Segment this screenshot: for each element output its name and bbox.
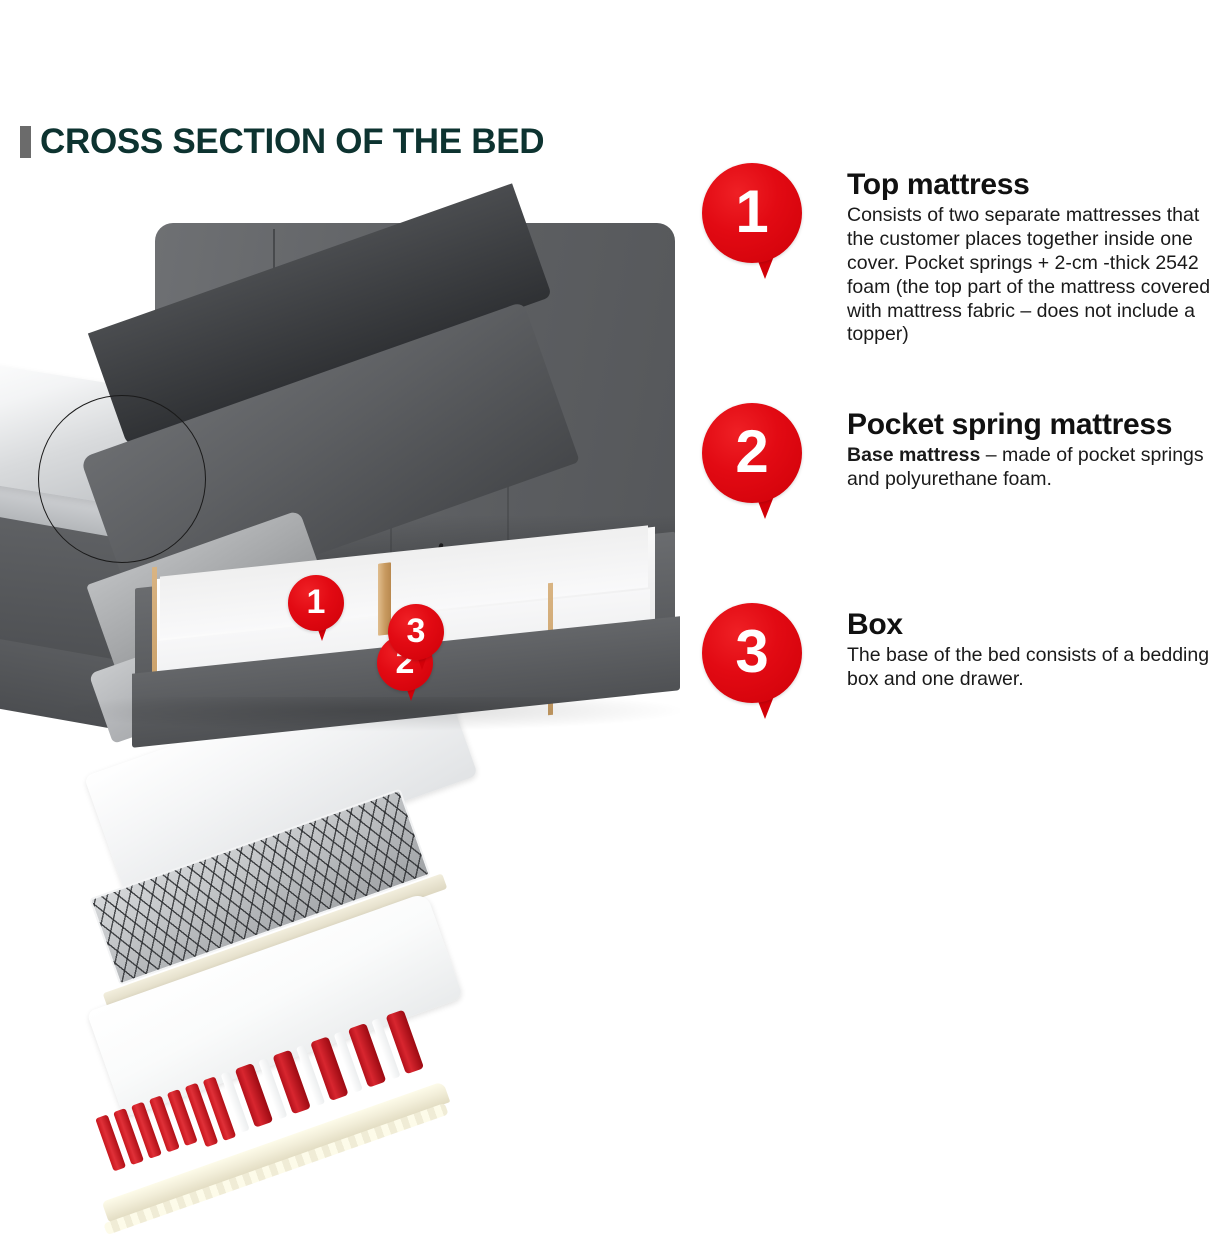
pin-number: 1 xyxy=(288,575,344,631)
marker-pin-3[interactable]: 3 xyxy=(388,604,444,680)
legend-body-1: Consists of two separate mattresses that… xyxy=(847,204,1214,347)
legend-item-3[interactable]: 3 Box The base of the bed consists of a … xyxy=(702,603,1202,763)
legend-item-1[interactable]: 1 Top mattress Consists of two separate … xyxy=(702,163,1202,363)
legend-text-2: Pocket spring mattress Base mattress – m… xyxy=(847,409,1214,492)
pin-number: 3 xyxy=(702,603,802,703)
legend-heading-2: Pocket spring mattress xyxy=(847,409,1214,441)
page-title: CROSS SECTION OF THE BED xyxy=(20,124,544,159)
floor-shadow xyxy=(60,697,680,731)
legend-heading-1: Top mattress xyxy=(847,169,1214,201)
detail-circle-callout xyxy=(38,395,206,563)
legend-body-2-emphasis: Base mattress xyxy=(847,444,980,466)
pin-number: 1 xyxy=(702,163,802,263)
legend-item-2[interactable]: 2 Pocket spring mattress Base mattress –… xyxy=(702,403,1202,563)
legend-heading-3: Box xyxy=(847,609,1214,641)
legend-body-2: Base mattress – made of pocket springs a… xyxy=(847,444,1214,492)
bed-cross-section-illustration: 1 2 xyxy=(0,215,700,735)
legend-text-3: Box The base of the bed consists of a be… xyxy=(847,609,1214,692)
pin-number: 2 xyxy=(702,403,802,503)
legend-text-1: Top mattress Consists of two separate ma… xyxy=(847,169,1214,347)
legend-body-3: The base of the bed consists of a beddin… xyxy=(847,644,1214,692)
title-accent-bar xyxy=(20,126,31,158)
pin-number: 3 xyxy=(388,604,444,660)
page-title-text: CROSS SECTION OF THE BED xyxy=(40,124,544,159)
marker-pin-1[interactable]: 1 xyxy=(288,575,344,651)
